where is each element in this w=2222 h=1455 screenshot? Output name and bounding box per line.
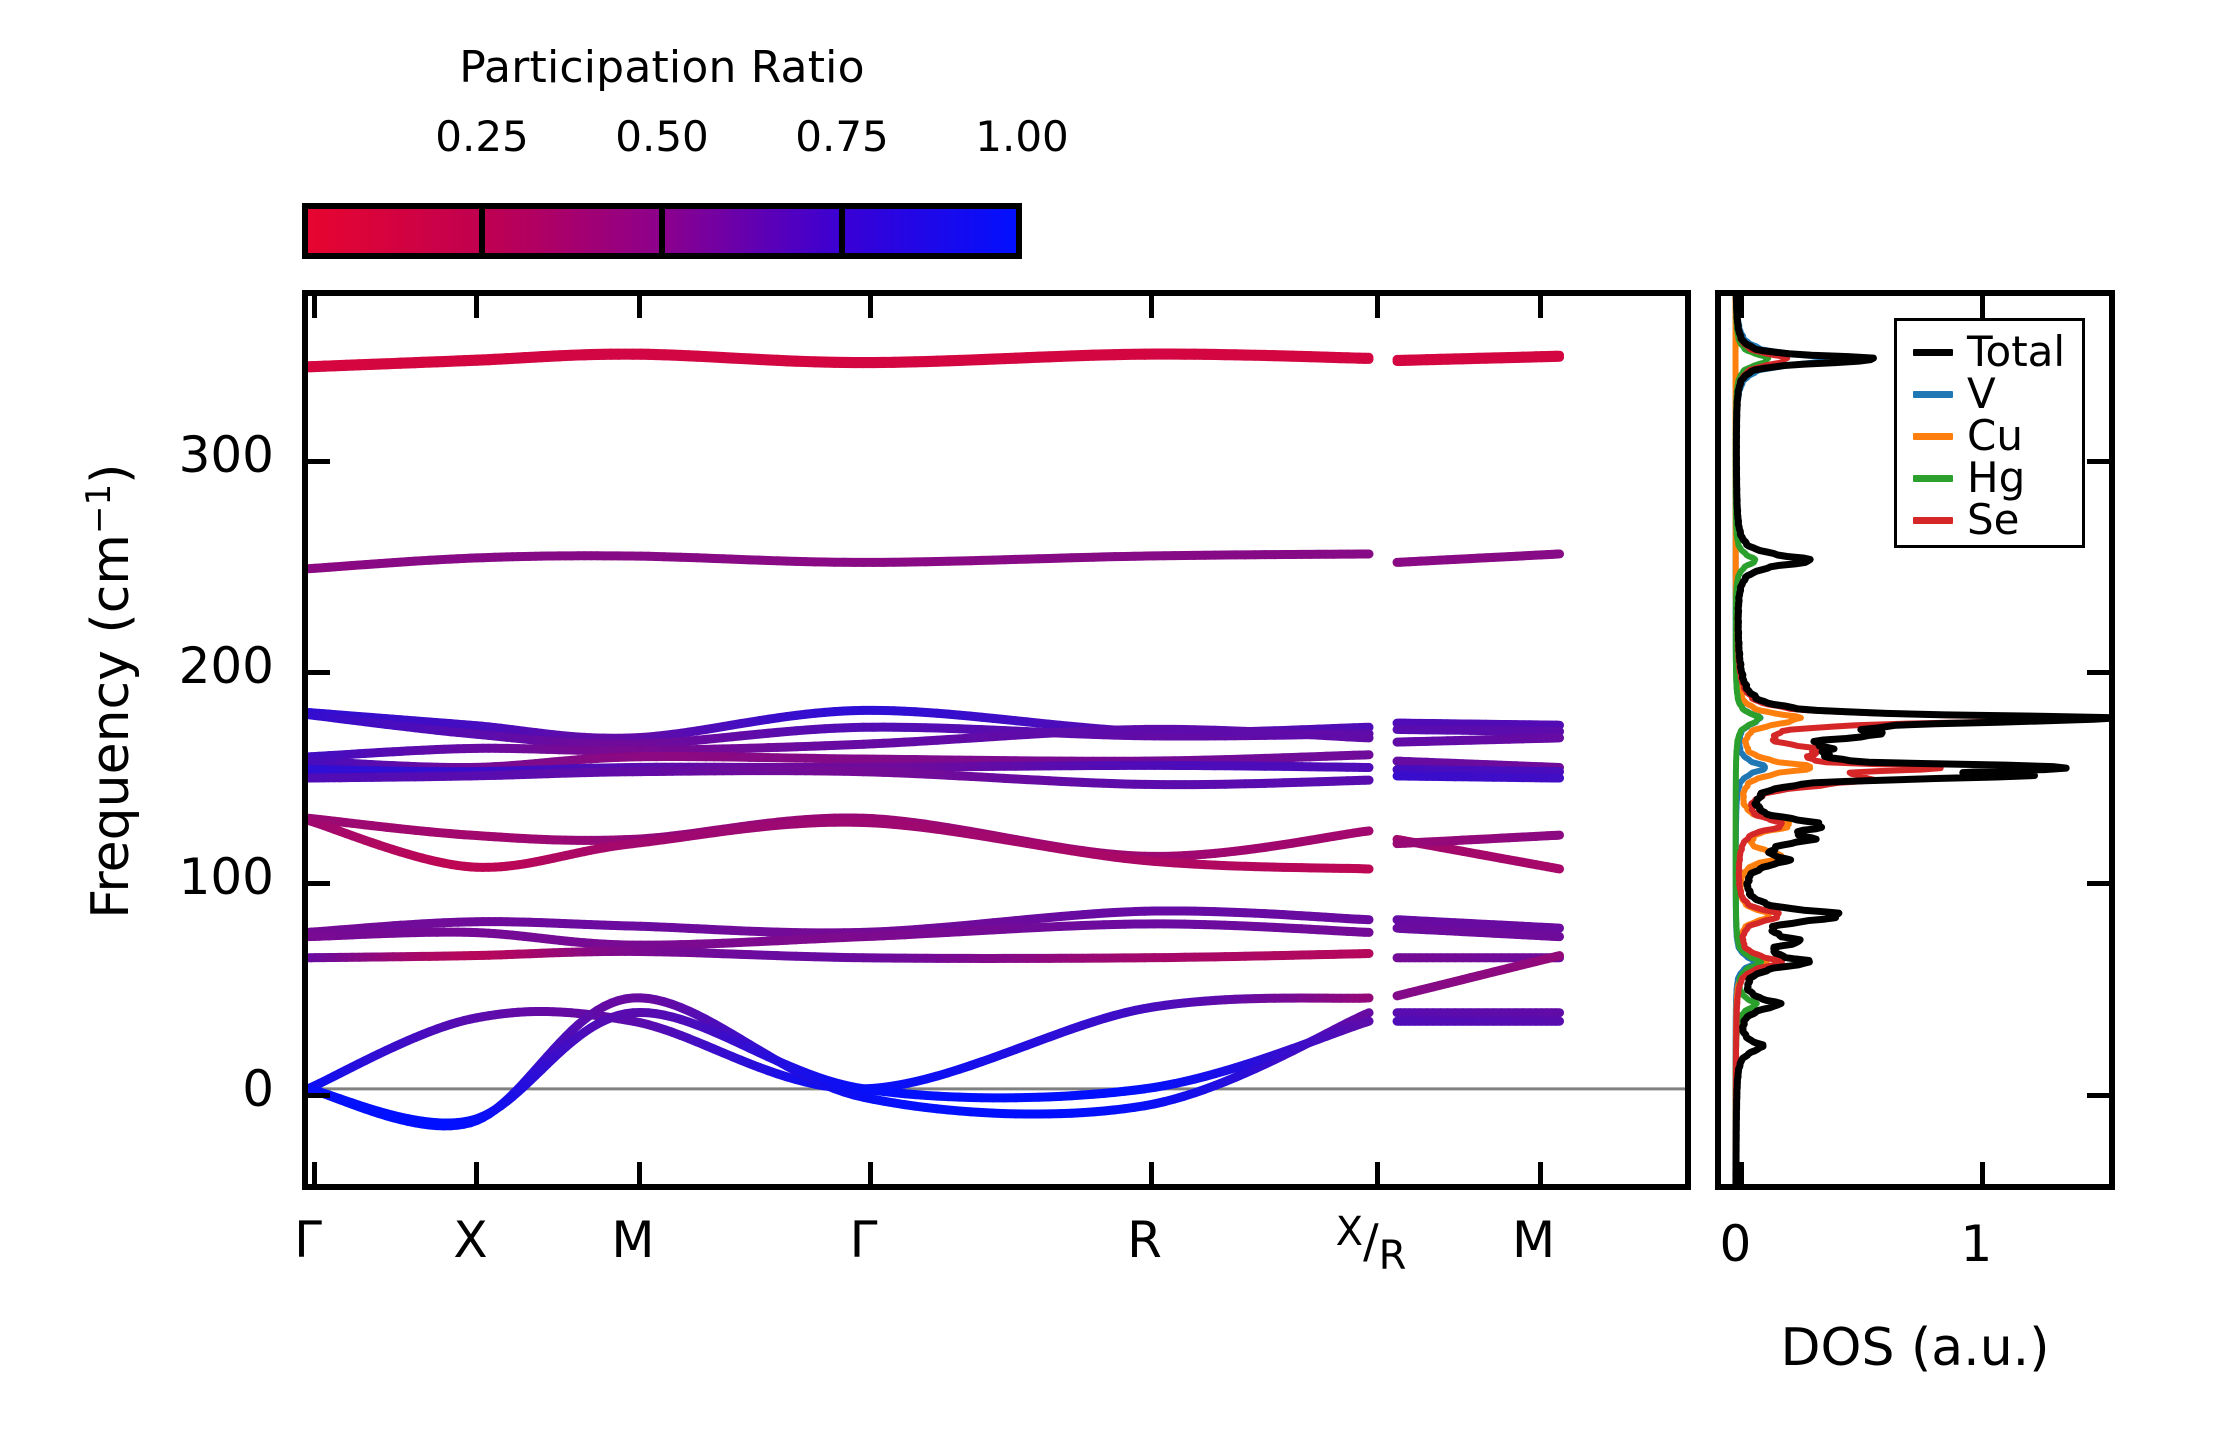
band-plot-area <box>308 296 1685 1184</box>
colorbar-tick-labels: 0.250.500.751.00 <box>302 112 1022 168</box>
x-axis-tick <box>1149 1162 1154 1184</box>
x-axis-tick-label: R <box>1127 1215 1162 1265</box>
x-axis-tick <box>868 1162 873 1184</box>
x-axis-tick <box>1375 1162 1380 1184</box>
dos-x-axis-tick <box>1739 296 1744 318</box>
dos-x-tick-label: 0 <box>1720 1215 1752 1273</box>
y-axis-tick <box>308 670 330 675</box>
x-axis-tick-label-fraction: X/R <box>1336 1215 1407 1265</box>
x-axis-tick <box>1538 1162 1543 1184</box>
y-axis-tick-labels: 0100200300 <box>120 290 288 1190</box>
dos-legend: TotalVCuHgSe <box>1894 318 2085 548</box>
dos-x-tick-labels: 01 <box>1715 1215 2115 1285</box>
band-curve <box>308 951 1369 958</box>
band-structure-plot <box>302 290 1691 1190</box>
dos-y-axis-tick <box>2087 881 2109 886</box>
band-curve <box>1397 776 1559 778</box>
legend-label: Cu <box>1967 415 2023 457</box>
dos-y-axis-tick <box>2087 670 2109 675</box>
legend-label: Total <box>1967 331 2065 373</box>
colorbar-tick-label: 0.25 <box>435 112 529 161</box>
legend-item-cu[interactable]: Cu <box>1913 415 2082 457</box>
band-curve <box>1397 770 1559 772</box>
y-axis-tick-label: 0 <box>242 1060 274 1118</box>
legend-item-v[interactable]: V <box>1913 373 2082 415</box>
x-axis-tick-label: M <box>611 1215 654 1265</box>
legend-line-swatch <box>1913 433 1953 440</box>
x-axis-tick <box>312 1162 317 1184</box>
legend-label: Hg <box>1967 457 2025 499</box>
x-axis-tick-top <box>1538 296 1543 318</box>
y-axis-tick <box>308 459 330 464</box>
dos-x-tick-label: 1 <box>1961 1215 1993 1273</box>
dos-x-axis-label: DOS (a.u.) <box>1715 1318 2115 1378</box>
band-curve <box>1397 729 1559 731</box>
dos-x-axis-tick <box>1980 1162 1985 1184</box>
phonon-figure: Participation Ratio 0.250.500.751.00 Fre… <box>0 0 2222 1455</box>
x-axis-tick-top <box>1375 296 1380 318</box>
legend-label: Se <box>1967 499 2020 541</box>
dos-x-axis-tick <box>1739 1162 1744 1184</box>
y-axis-tick <box>308 1093 330 1098</box>
legend-line-swatch <box>1913 475 1953 482</box>
x-axis-tick <box>474 1162 479 1184</box>
band-curve <box>1397 554 1559 562</box>
dos-y-axis-tick <box>2087 459 2109 464</box>
x-axis-tick-label: Γ <box>850 1215 878 1265</box>
colorbar-tick-label: 1.00 <box>975 112 1069 161</box>
x-axis-tick-label: Γ <box>294 1215 322 1265</box>
dos-x-axis-tick <box>1980 296 1985 318</box>
colorbar-title: Participation Ratio <box>302 42 1022 93</box>
legend-line-swatch <box>1913 517 1953 524</box>
y-axis-tick-label: 100 <box>179 848 274 906</box>
x-axis-tick-top <box>312 296 317 318</box>
legend-item-hg[interactable]: Hg <box>1913 457 2082 499</box>
band-curve <box>1397 357 1559 361</box>
x-axis-tick-top <box>474 296 479 318</box>
band-curve <box>308 820 1369 869</box>
x-axis-tick-labels: ΓXMΓRX/RM <box>302 1215 1691 1325</box>
band-curve <box>308 924 1369 945</box>
y-axis-tick-label: 200 <box>179 637 274 695</box>
y-axis-tick-label: 300 <box>179 426 274 484</box>
colorbar-frame <box>302 203 1022 259</box>
band-curve <box>308 554 1369 569</box>
band-curve <box>308 771 1369 785</box>
band-curves <box>308 296 1685 1184</box>
x-axis-tick-top <box>868 296 873 318</box>
band-curve <box>308 1012 1369 1123</box>
legend-item-total[interactable]: Total <box>1913 331 2082 373</box>
legend-line-swatch <box>1913 349 1953 356</box>
band-curve <box>1397 723 1559 725</box>
legend-line-swatch <box>1913 391 1953 398</box>
legend-item-se[interactable]: Se <box>1913 499 2082 541</box>
legend-label: V <box>1967 373 1996 415</box>
x-axis-tick-top <box>637 296 642 318</box>
participation-ratio-colorbar <box>302 203 1022 259</box>
colorbar-tick-label: 0.75 <box>795 112 889 161</box>
dos-y-axis-tick <box>2087 1093 2109 1098</box>
x-axis-tick <box>637 1162 642 1184</box>
band-curve <box>1397 738 1559 742</box>
x-axis-tick-label: M <box>1512 1215 1555 1265</box>
colorbar-tick-label: 0.50 <box>615 112 709 161</box>
x-axis-tick-top <box>1149 296 1154 318</box>
y-axis-tick <box>308 881 330 886</box>
x-axis-tick-label: X <box>453 1215 487 1265</box>
band-curve <box>1397 835 1559 843</box>
